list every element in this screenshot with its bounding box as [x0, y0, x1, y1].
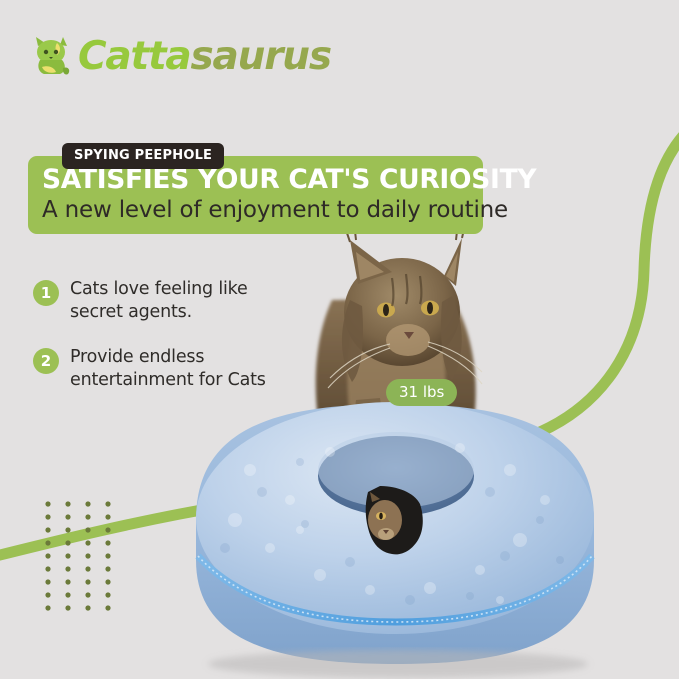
- feature-list: 1 Cats love feeling like secret agents. …: [33, 278, 293, 414]
- zipper: [198, 556, 592, 622]
- fleece-texture: [220, 443, 564, 605]
- weight-badge: 31 lbs: [386, 379, 457, 406]
- cat-dinosaur-mascot-icon: [30, 34, 72, 78]
- cat-bed-opening: [318, 436, 474, 516]
- brand-wordmark: Cattasaurus: [78, 37, 331, 76]
- banner-subtitle: A new level of enjoyment to daily routin…: [42, 197, 508, 223]
- dot-grid: [45, 501, 110, 610]
- promo-image-root: Cattasaurus SATISFIES YOUR CAT'S CURIOSI…: [0, 0, 679, 679]
- brand-logo: Cattasaurus: [30, 28, 331, 84]
- cat-bed-base: [196, 404, 594, 664]
- green-curve-left: [0, 478, 365, 560]
- feature-text: Cats love feeling like secret agents.: [70, 278, 293, 324]
- feature-text: Provide endless entertainment for Cats: [70, 346, 293, 392]
- maine-coon-cat: [316, 220, 482, 489]
- brand-name-part-a: Catta: [78, 34, 191, 79]
- feature-badge: SPYING PEEPHOLE: [62, 143, 224, 169]
- brand-name-part-b: saurus: [191, 34, 331, 79]
- feature-number: 2: [33, 348, 59, 374]
- cat-bed-top: [196, 402, 594, 634]
- list-item: 1 Cats love feeling like secret agents.: [33, 278, 293, 324]
- cat-face-peeking: [368, 492, 402, 540]
- feature-number: 1: [33, 280, 59, 306]
- list-item: 2 Provide endless entertainment for Cats: [33, 346, 293, 392]
- peephole-opening: [366, 486, 423, 554]
